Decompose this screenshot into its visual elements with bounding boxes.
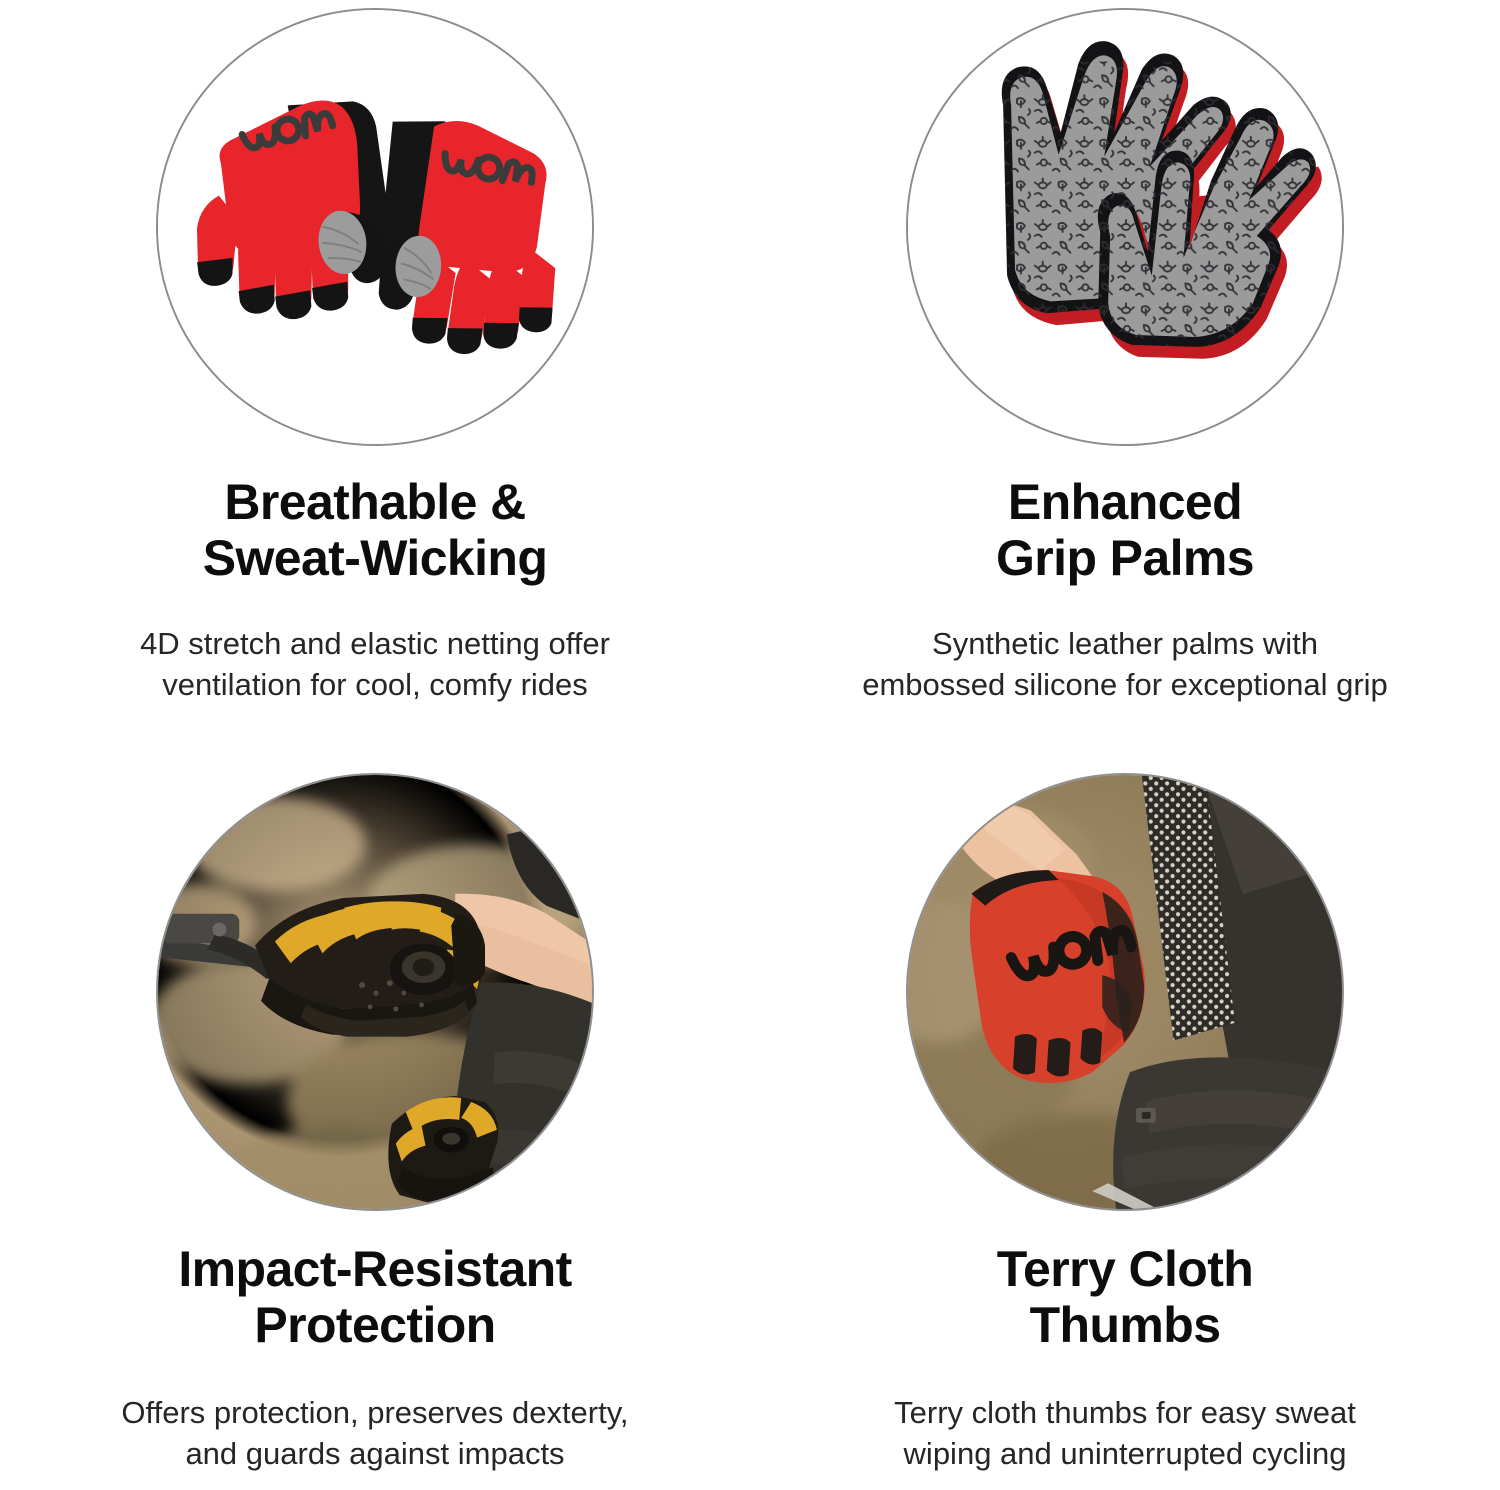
description-line: Offers protection, preserves dexterty, xyxy=(6,1393,744,1434)
title-line: Grip Palms xyxy=(996,530,1254,586)
description-line: and guards against impacts xyxy=(6,1434,744,1475)
rider-hand-on-handlebar-lifestyle-photo xyxy=(156,773,594,1211)
feature-card-terry-cloth-thumbs: Terry Cloth Thumbs Terry cloth thumbs fo… xyxy=(750,745,1500,1490)
title-line: Breathable & xyxy=(224,474,525,530)
feature-title-enhanced-grip-palms: Enhanced Grip Palms xyxy=(750,474,1500,586)
title-line: Impact-Resistant xyxy=(178,1241,571,1297)
description-line: Terry cloth thumbs for easy sweat xyxy=(756,1393,1494,1434)
title-line: Thumbs xyxy=(1030,1297,1221,1353)
title-line: Terry Cloth xyxy=(997,1241,1253,1297)
feature-card-enhanced-grip-palms: Enhanced Grip Palms Synthetic leather pa… xyxy=(750,0,1500,745)
feature-title-breathable-sweat-wicking: Breathable & Sweat-Wicking xyxy=(0,474,750,586)
feature-description-enhanced-grip-palms: Synthetic leather palms with embossed si… xyxy=(750,624,1500,706)
feature-grid: Breathable & Sweat-Wicking 4D stretch an… xyxy=(0,0,1500,1490)
description-line: Synthetic leather palms with xyxy=(756,624,1494,665)
title-line: Sweat-Wicking xyxy=(203,530,548,586)
feature-description-terry-cloth-thumbs: Terry cloth thumbs for easy sweat wiping… xyxy=(750,1393,1500,1475)
feature-card-breathable-sweat-wicking: Breathable & Sweat-Wicking 4D stretch an… xyxy=(0,0,750,745)
description-line: 4D stretch and elastic netting offer xyxy=(6,624,744,665)
description-line: wiping and uninterrupted cycling xyxy=(756,1434,1494,1475)
feature-description-impact-resistant-protection: Offers protection, preserves dexterty, a… xyxy=(0,1393,750,1475)
feature-description-breathable-sweat-wicking: 4D stretch and elastic netting offer ven… xyxy=(0,624,750,706)
grey-silicone-palm-gloves-pair-product-photo xyxy=(906,8,1344,446)
feature-title-terry-cloth-thumbs: Terry Cloth Thumbs xyxy=(750,1241,1500,1353)
feature-title-impact-resistant-protection: Impact-Resistant Protection xyxy=(0,1241,750,1353)
description-line: ventilation for cool, comfy rides xyxy=(6,665,744,706)
red-cycling-gloves-pair-product-photo xyxy=(156,8,594,446)
title-line: Protection xyxy=(254,1297,495,1353)
title-line: Enhanced xyxy=(1008,474,1242,530)
red-glove-on-rider-hip-lifestyle-photo xyxy=(906,773,1344,1211)
feature-card-impact-resistant-protection: Impact-Resistant Protection Offers prote… xyxy=(0,745,750,1490)
description-line: embossed silicone for exceptional grip xyxy=(756,665,1494,706)
